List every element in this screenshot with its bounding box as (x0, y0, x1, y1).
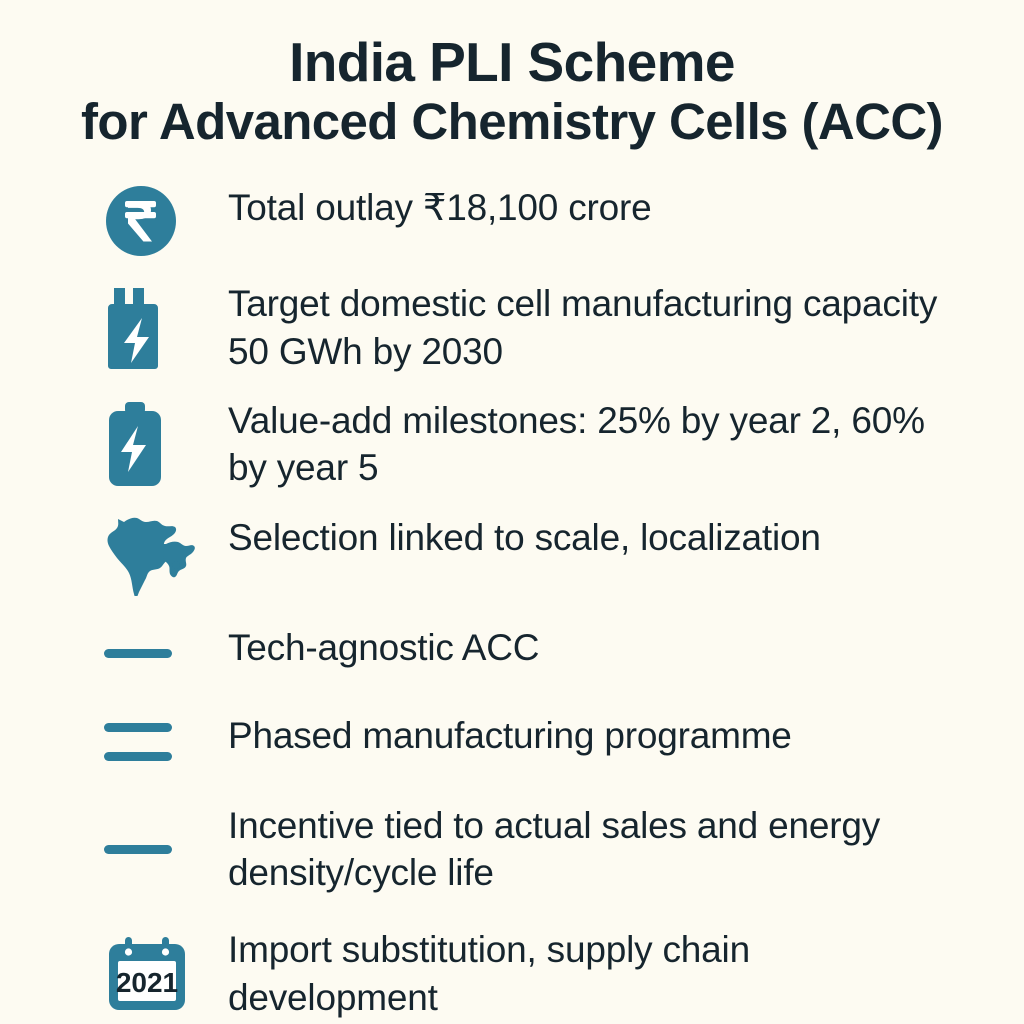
page-title: India PLI Scheme for Advanced Chemistry … (0, 0, 1024, 148)
india-map-icon (104, 514, 196, 596)
calendar-year-label: 2021 (116, 967, 178, 998)
list-item-label: Value-add milestones: 25% by year 2, 60%… (228, 397, 1000, 492)
list-item: 2021 Import substitution, supply chain d… (0, 896, 1000, 1021)
infographic-poster: India PLI Scheme for Advanced Chemistry … (0, 0, 1024, 1024)
icon-cell (0, 280, 228, 375)
list-item: Selection linked to scale, localization (0, 492, 1000, 596)
list-item-label: Import substitution, supply chain develo… (228, 926, 1000, 1021)
bar-glyph (104, 649, 172, 658)
bar-glyph (104, 845, 172, 854)
icon-cell (0, 184, 228, 258)
calendar-icon: 2021 (104, 935, 190, 1013)
double-bar-icon (104, 723, 172, 761)
list-item-label: Total outlay ₹18,100 crore (228, 184, 1000, 231)
bar-glyph (104, 752, 172, 761)
icon-cell (0, 802, 228, 897)
list-item-label: Tech-agnostic ACC (228, 624, 1000, 671)
list-item-label: Incentive tied to actual sales and energ… (228, 802, 1000, 897)
list-item: Tech-agnostic ACC (0, 596, 1000, 684)
title-line-2: for Advanced Chemistry Cells (ACC) (0, 95, 1024, 148)
icon-cell (0, 397, 228, 492)
battery-bolt-icon (104, 400, 166, 488)
title-line-1: India PLI Scheme (0, 34, 1024, 91)
list-item-label: Target domestic cell manufacturing capac… (228, 280, 1000, 375)
single-bar-icon (104, 649, 172, 658)
icon-cell (0, 712, 228, 772)
list-item-label: Phased manufacturing programme (228, 712, 1000, 759)
icon-cell (0, 624, 228, 684)
bar-glyph (104, 723, 172, 732)
icon-cell: 2021 (0, 926, 228, 1021)
icon-cell (0, 514, 228, 596)
bullet-list: Total outlay ₹18,100 crore Target domest… (0, 172, 1024, 1021)
list-item: Total outlay ₹18,100 crore (0, 172, 1000, 258)
list-item: Value-add milestones: 25% by year 2, 60%… (0, 375, 1000, 492)
list-item: Target domestic cell manufacturing capac… (0, 258, 1000, 375)
list-item: Phased manufacturing programme (0, 684, 1000, 772)
single-bar-icon (104, 845, 172, 854)
factory-battery-bank-icon (104, 285, 174, 371)
list-item-label: Selection linked to scale, localization (228, 514, 1000, 561)
list-item: Incentive tied to actual sales and energ… (0, 772, 1000, 897)
rupee-coin-icon (104, 184, 178, 258)
